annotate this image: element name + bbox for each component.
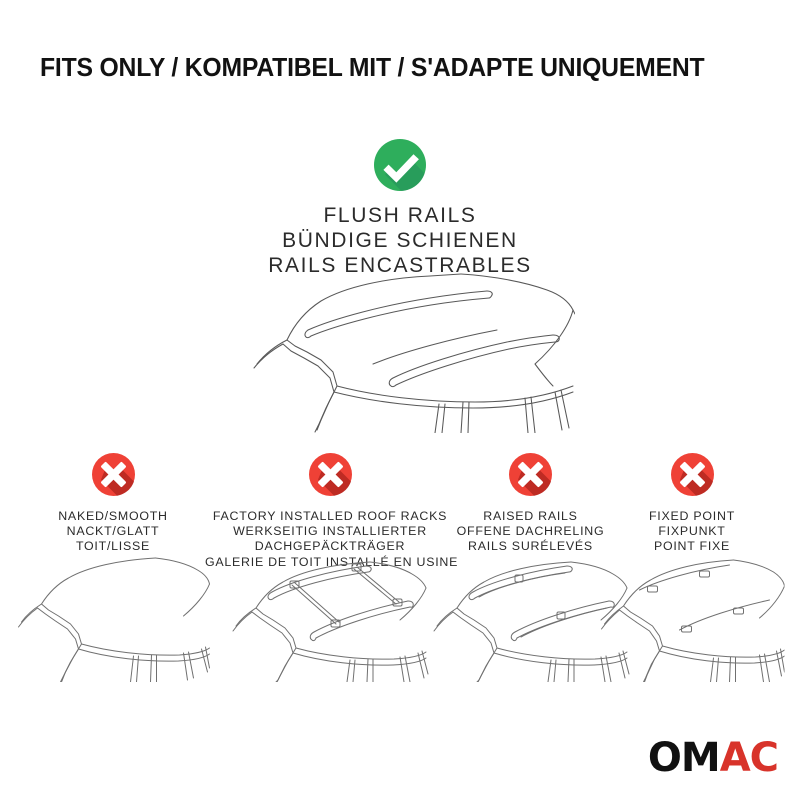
- label-en: FACTORY INSTALLED ROOF RACKS: [205, 509, 455, 524]
- label-de: NACKT/GLATT: [13, 524, 213, 539]
- logo-text-dark: OM: [648, 735, 720, 781]
- car-roof-naked-illustration: [16, 552, 211, 682]
- red-x-circle-icon: [508, 452, 553, 497]
- omac-logo: OMAC: [648, 738, 778, 778]
- red-x-circle-icon: [308, 452, 353, 497]
- label-en: RAISED RAILS: [443, 509, 618, 524]
- fitment-infographic: FITS ONLY / KOMPATIBEL MIT / S'ADAPTE UN…: [0, 0, 800, 800]
- incompatible-labels: RAISED RAILS OFFENE DACHRELING RAILS SUR…: [443, 509, 618, 555]
- incompatible-item-factory-racks: FACTORY INSTALLED ROOF RACKS WERKSEITIG …: [205, 452, 455, 570]
- incompatible-labels: FIXED POINT FIXPUNKT POINT FIXE: [612, 509, 772, 555]
- label-en: FIXED POINT: [612, 509, 772, 524]
- car-roof-fixed-point-illustration: [600, 552, 785, 682]
- incompatible-item-raised-rails: RAISED RAILS OFFENE DACHRELING RAILS SUR…: [443, 452, 618, 555]
- label-en: NAKED/SMOOTH: [13, 509, 213, 524]
- compatible-labels: FLUSH RAILS BÜNDIGE SCHIENEN RAILS ENCAS…: [0, 203, 800, 278]
- label-de: OFFENE DACHRELING: [443, 524, 618, 539]
- incompatible-labels: NAKED/SMOOTH NACKT/GLATT TOIT/LISSE: [13, 509, 213, 555]
- page-title: FITS ONLY / KOMPATIBEL MIT / S'ADAPTE UN…: [40, 52, 758, 84]
- label-de: FIXPUNKT: [612, 524, 772, 539]
- red-x-circle-icon: [670, 452, 715, 497]
- car-roof-flush-rails-illustration: [225, 268, 575, 433]
- label-de-1: WERKSEITIG INSTALLIERTER: [205, 524, 455, 539]
- logo-text-red: AC: [720, 735, 778, 781]
- incompatible-item-naked-smooth: NAKED/SMOOTH NACKT/GLATT TOIT/LISSE: [13, 452, 213, 555]
- compatible-section: FLUSH RAILS BÜNDIGE SCHIENEN RAILS ENCAS…: [0, 138, 800, 278]
- compatible-label-de: BÜNDIGE SCHIENEN: [0, 228, 800, 253]
- red-x-circle-icon: [91, 452, 136, 497]
- car-roof-factory-racks-illustration: [230, 552, 430, 682]
- incompatible-section: NAKED/SMOOTH NACKT/GLATT TOIT/LISSE: [0, 452, 800, 702]
- green-check-circle-icon: [373, 138, 427, 192]
- incompatible-item-fixed-point: FIXED POINT FIXPUNKT POINT FIXE: [612, 452, 772, 555]
- compatible-label-en: FLUSH RAILS: [0, 203, 800, 228]
